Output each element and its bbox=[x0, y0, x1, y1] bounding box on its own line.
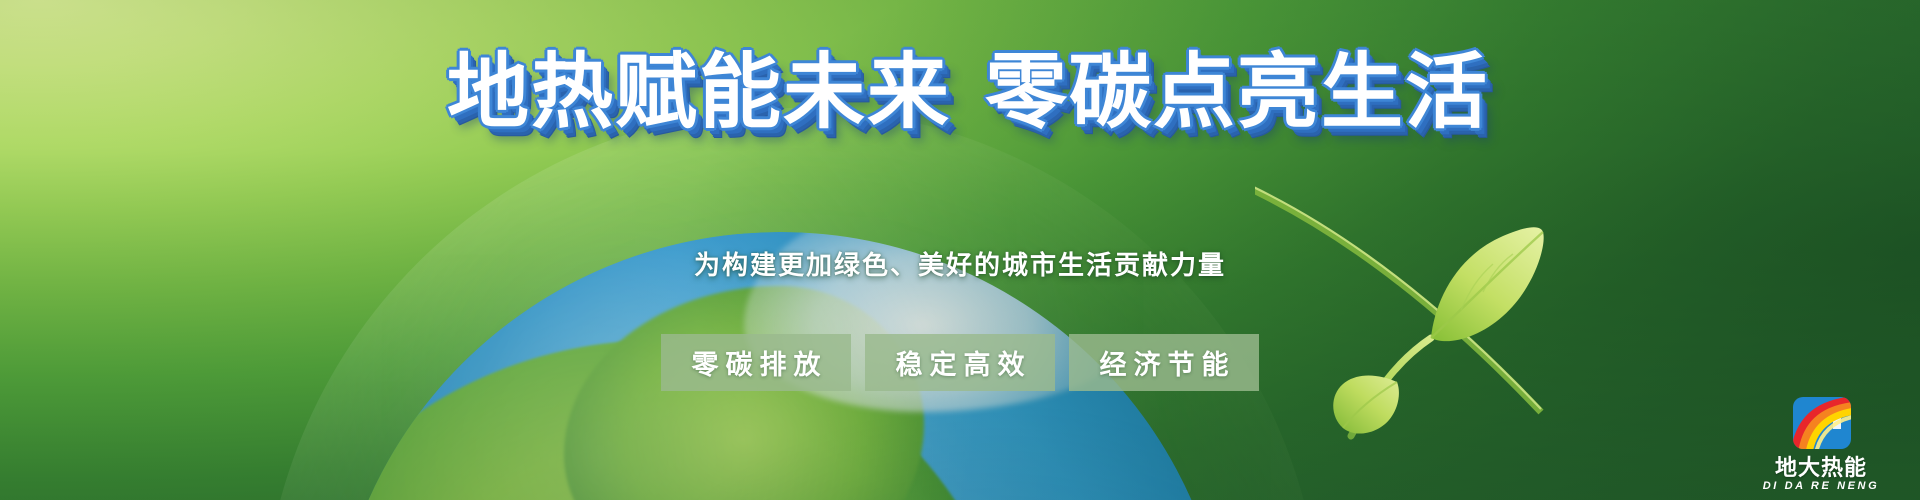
feature-tag-zero-carbon[interactable]: 零碳排放 bbox=[661, 334, 851, 391]
rainbow-arc-in-rounded-square-icon bbox=[1789, 395, 1853, 453]
brand-logo[interactable]: 地大热能 DI DA RE NENG bbox=[1758, 395, 1884, 492]
feature-tag-stable-efficient[interactable]: 稳定高效 bbox=[865, 334, 1055, 391]
logo-pinyin-name: DI DA RE NENG bbox=[1763, 480, 1880, 492]
logo-chinese-name: 地大热能 bbox=[1775, 456, 1867, 479]
feature-tag-list: 零碳排放 稳定高效 经济节能 bbox=[0, 334, 1920, 391]
headline-part-1: 地热赋能未来 bbox=[447, 47, 951, 138]
feature-tag-economical[interactable]: 经济节能 bbox=[1069, 334, 1259, 391]
page-title: 地热赋能未来零碳点亮生活 bbox=[0, 52, 1920, 134]
headline-part-2: 零碳点亮生活 bbox=[985, 47, 1489, 138]
page-subtitle: 为构建更加绿色、美好的城市生活贡献力量 bbox=[0, 245, 1920, 282]
sprout-icon bbox=[1255, 150, 1555, 440]
hero-banner: 地热赋能未来零碳点亮生活 为构建更加绿色、美好的城市生活贡献力量 零碳排放 稳定… bbox=[0, 0, 1920, 500]
